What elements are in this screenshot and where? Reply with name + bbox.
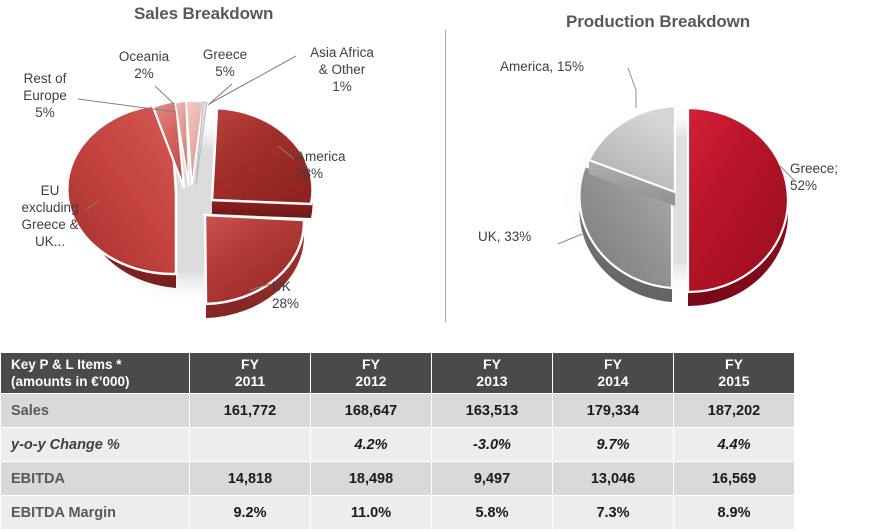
cell-margin-fy2012: 11.0% [311,496,431,529]
cell-sales-fy2012: 168,647 [311,394,431,427]
sales-label-greece: Greece 5% [190,46,260,80]
production-label-uk: UK, 33% [478,228,564,245]
table-header-fy2015: FY 2015 [674,353,794,393]
table-header-key-items: Key P & L Items * (amounts in €’000) [1,353,189,393]
sales-label-uk: UK 28% [272,278,332,312]
table-header-fy2011: FY 2011 [190,353,310,393]
vertical-divider [445,30,446,322]
cell-yoy-fy2011 [190,428,310,461]
table-header-row: Key P & L Items * (amounts in €’000) FY … [1,353,794,393]
cell-margin-fy2011: 9.2% [190,496,310,529]
production-label-america: America, 15% [500,58,630,75]
sales-label-eu-excluding: EU excluding Greece & UK... [10,182,90,250]
table-row-yoy-change: y-o-y Change % 4.2% -3.0% 9.7% 4.4% [1,428,794,461]
production-slice-greece [688,108,788,306]
cell-ebitda-fy2011: 14,818 [190,462,310,495]
cell-ebitda-fy2015: 16,569 [674,462,794,495]
cell-ebitda-fy2014: 13,046 [553,462,673,495]
cell-margin-fy2013: 5.8% [432,496,552,529]
cell-margin-fy2015: 8.9% [674,496,794,529]
table-header-fy2014: FY 2014 [553,353,673,393]
cell-yoy-fy2013: -3.0% [432,428,552,461]
cell-margin-fy2014: 7.3% [553,496,673,529]
production-label-greece: Greece; 52% [790,160,870,194]
row-label-yoy-change: y-o-y Change % [1,428,189,461]
slide-canvas: Sales Breakdown Production Breakdown [0,0,874,532]
cell-ebitda-fy2013: 9,497 [432,462,552,495]
cell-ebitda-fy2012: 18,498 [311,462,431,495]
cell-sales-fy2013: 163,513 [432,394,552,427]
row-label-sales: Sales [1,394,189,427]
table-row-ebitda-margin: EBITDA Margin 9.2% 11.0% 5.8% 7.3% 8.9% [1,496,794,529]
cell-yoy-fy2014: 9.7% [553,428,673,461]
table-row-ebitda: EBITDA 14,818 18,498 9,497 13,046 16,569 [1,462,794,495]
row-label-ebitda: EBITDA [1,462,189,495]
cell-yoy-fy2015: 4.4% [674,428,794,461]
cell-sales-fy2014: 179,334 [553,394,673,427]
sales-label-america: America 28% [296,148,378,182]
cell-yoy-fy2012: 4.2% [311,428,431,461]
key-pl-items-table: Key P & L Items * (amounts in €’000) FY … [0,352,795,530]
sales-label-oceania: Oceania 2% [108,48,180,82]
table-row-sales: Sales 161,772 168,647 163,513 179,334 18… [1,394,794,427]
sales-label-asia-africa-other: Asia Africa & Other 1% [296,44,388,95]
row-label-ebitda-margin: EBITDA Margin [1,496,189,529]
table-header-fy2013: FY 2013 [432,353,552,393]
table-header-fy2012: FY 2012 [311,353,431,393]
cell-sales-fy2011: 161,772 [190,394,310,427]
sales-label-rest-of-europe: Rest of Europe 5% [6,70,84,121]
cell-sales-fy2015: 187,202 [674,394,794,427]
